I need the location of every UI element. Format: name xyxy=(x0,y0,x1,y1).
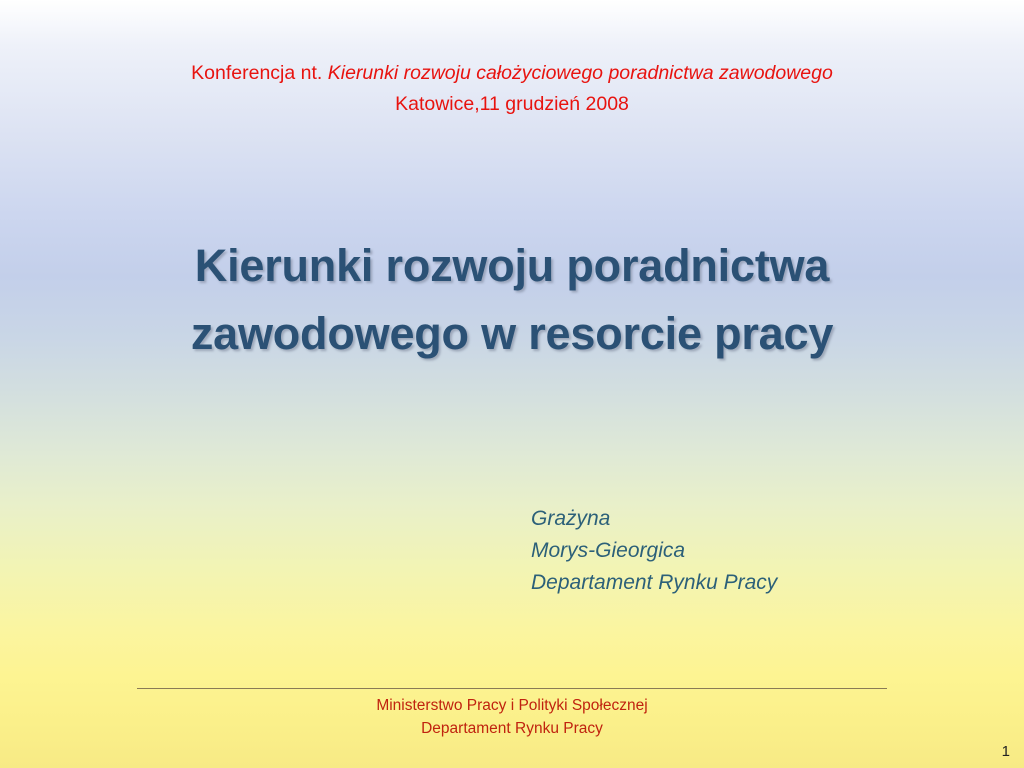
presentation-slide: Konferencja nt. Kierunki rozwoju całożyc… xyxy=(0,0,1024,768)
page-number: 1 xyxy=(1002,743,1010,760)
page-title-line-1: Kierunki rozwoju poradnictwa xyxy=(80,232,944,300)
footer: Ministerstwo Pracy i Polityki Społecznej… xyxy=(0,694,1024,740)
page-title: Kierunki rozwoju poradnictwa zawodowego … xyxy=(80,232,944,368)
conference-header-title: Kierunki rozwoju całożyciowego poradnict… xyxy=(328,62,833,84)
footer-divider xyxy=(137,688,887,689)
conference-header: Konferencja nt. Kierunki rozwoju całożyc… xyxy=(0,58,1024,120)
author-last-name: Morys-Gieorgica xyxy=(531,535,777,567)
page-title-line-2: zawodowego w resorcie pracy xyxy=(80,300,944,368)
conference-header-line-2: Katowice,11 grudzień 2008 xyxy=(0,89,1024,120)
conference-header-lead: Konferencja nt. xyxy=(191,62,328,84)
footer-line-1: Ministerstwo Pracy i Polityki Społecznej xyxy=(0,694,1024,717)
author-department: Departament Rynku Pracy xyxy=(531,567,777,599)
author-block: Grażyna Morys-Gieorgica Departament Rynk… xyxy=(531,503,777,599)
conference-header-line-1: Konferencja nt. Kierunki rozwoju całożyc… xyxy=(0,58,1024,89)
author-first-name: Grażyna xyxy=(531,503,777,535)
footer-line-2: Departament Rynku Pracy xyxy=(0,717,1024,740)
